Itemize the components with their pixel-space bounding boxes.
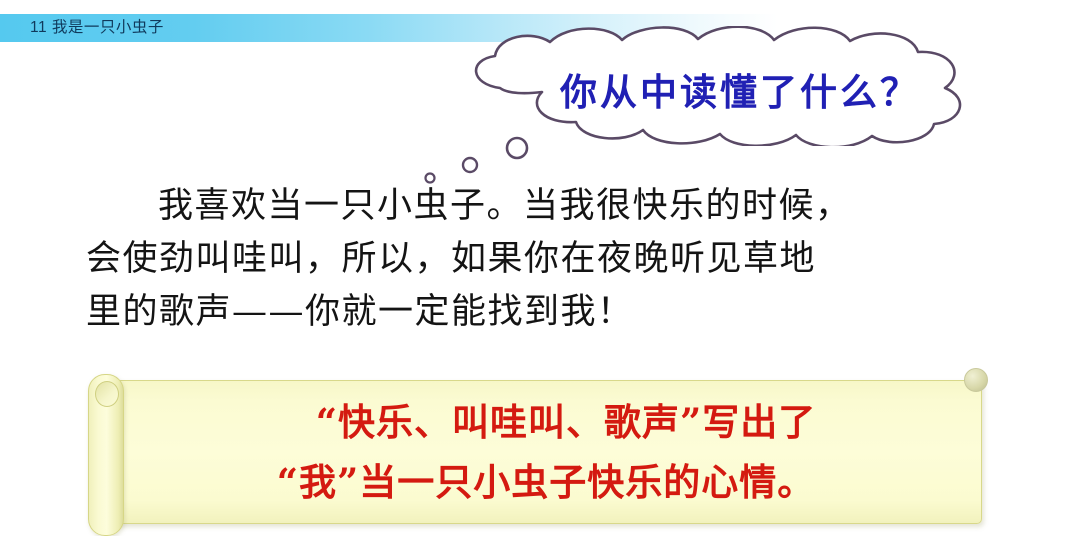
page-title: 11 我是一只小虫子 — [30, 14, 164, 42]
passage-line-3: 里的歌声——你就一定能找到我！ — [86, 286, 966, 339]
passage-line-2: 会使劲叫哇叫，所以，如果你在夜晚听见草地 — [86, 233, 966, 286]
scroll-banner: “快乐、叫哇叫、歌声”写出了 “我”当一只小虫子快乐的心情。 — [88, 368, 992, 534]
thought-bubble-text: 你从中读懂了什么？ — [440, 62, 1040, 116]
scroll-knob-right-icon — [964, 368, 988, 392]
scroll-line-1: “快乐、叫哇叫、歌声”写出了 — [114, 392, 978, 452]
passage-text: 我喜欢当一只小虫子。当我很快乐的时候， 会使劲叫哇叫，所以，如果你在夜晚听见草地… — [86, 180, 966, 339]
scroll-text: “快乐、叫哇叫、歌声”写出了 “我”当一只小虫子快乐的心情。 — [114, 392, 978, 512]
scroll-line-2: “我”当一只小虫子快乐的心情。 — [114, 452, 978, 512]
passage-line-1-text: 我喜欢当一只小虫子。当我很快乐的时候， — [158, 186, 852, 226]
passage-line-1: 我喜欢当一只小虫子。当我很快乐的时候， — [86, 180, 966, 233]
